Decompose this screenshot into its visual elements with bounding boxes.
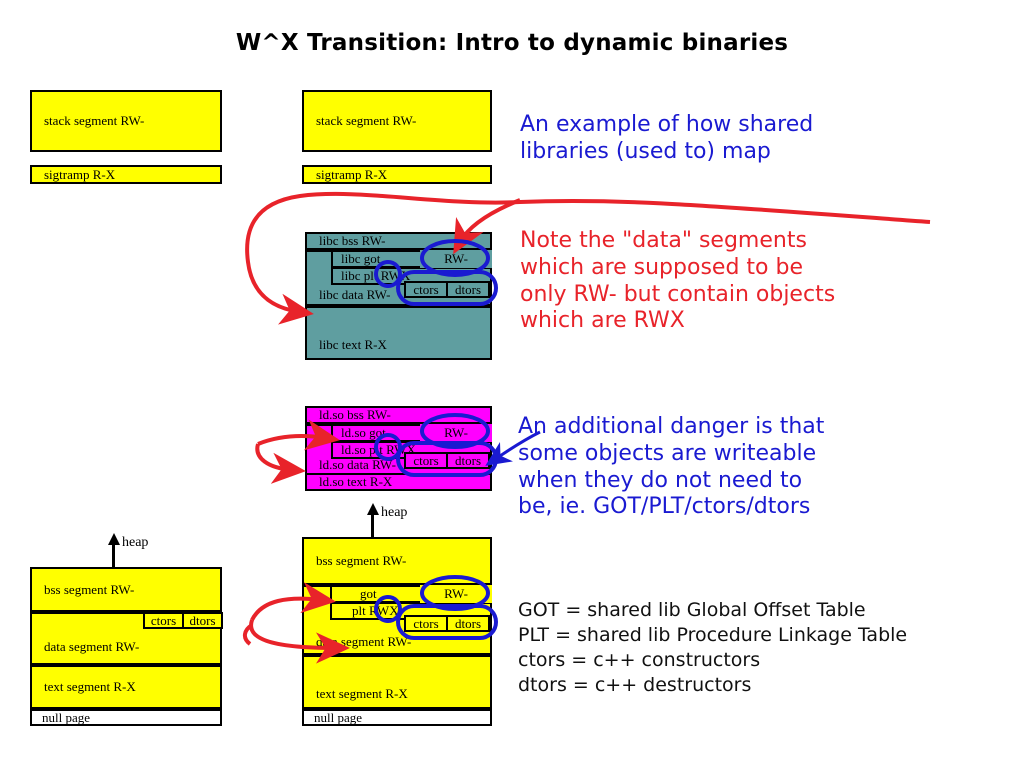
middle-null-page-label: null page [304, 711, 362, 725]
ldso-ctors-box: ctors [404, 452, 448, 469]
left-heap-label: heap [122, 535, 148, 551]
red-mark-left-column [245, 625, 252, 644]
left-heap-arrow-head [108, 533, 120, 545]
libc-plt-label: libc plt RWX [333, 268, 410, 284]
middle-stack-segment-box: stack segment RW- [302, 90, 492, 152]
left-sigtramp-box: sigtramp R-X [30, 165, 222, 184]
left-bss-segment-label: bss segment RW- [32, 583, 134, 597]
ldso-bss-box: ld.so bss RW- [305, 406, 492, 424]
middle-ctors-box: ctors [404, 615, 448, 632]
middle-got-perm-box: RW- [420, 585, 492, 603]
middle-bss-segment-label: bss segment RW- [304, 554, 406, 568]
middle-got-label: got [332, 586, 377, 602]
legend-abbreviations: GOT = shared lib Global Offset Table PLT… [518, 598, 907, 698]
left-stack-segment-label: stack segment RW- [32, 114, 144, 128]
left-sigtramp-label: sigtramp R-X [32, 168, 115, 182]
ldso-bss-label: ld.so bss RW- [307, 408, 391, 422]
ldso-dtors-label: dtors [455, 453, 481, 469]
ldso-got-perm-box: RW- [420, 424, 492, 442]
middle-data-segment-label: data segment RW- [304, 635, 411, 653]
left-text-segment-label: text segment R-X [32, 680, 136, 694]
middle-plt-label: plt RWX [332, 603, 399, 619]
libc-got-label: libc got [333, 251, 380, 267]
libc-got-perm-box: RW- [420, 250, 492, 268]
ldso-text-label: ld.so text R-X [307, 475, 392, 489]
left-null-page-box: null page [30, 709, 222, 726]
middle-heap-arrow-head [367, 503, 379, 515]
libc-text-box: libc text R-X [305, 306, 492, 360]
left-null-page-label: null page [32, 711, 90, 725]
middle-sigtramp-box: sigtramp R-X [302, 165, 492, 184]
middle-ctors-label: ctors [413, 616, 438, 632]
middle-heap-label: heap [381, 505, 407, 521]
libc-ctors-label: ctors [413, 282, 438, 298]
left-data-segment-label: data segment RW- [32, 624, 139, 654]
ldso-got-perm-label: RW- [444, 425, 468, 441]
left-bss-segment-box: bss segment RW- [30, 567, 222, 612]
ldso-dtors-box: dtors [446, 452, 490, 469]
middle-bss-segment-box: bss segment RW- [302, 537, 492, 585]
ldso-got-label: ld.so got [333, 425, 386, 441]
libc-bss-box: libc bss RW- [305, 232, 492, 250]
annotation-additional-danger: An additional danger is that some object… [518, 414, 824, 521]
libc-got-perm-label: RW- [444, 251, 468, 267]
middle-text-segment-label: text segment R-X [304, 687, 408, 707]
libc-dtors-label: dtors [455, 282, 481, 298]
left-text-segment-box: text segment R-X [30, 665, 222, 709]
ldso-text-box: ld.so text R-X [305, 473, 492, 491]
middle-null-page-box: null page [302, 709, 492, 726]
libc-data-label: libc data RW- [307, 288, 390, 304]
libc-dtors-box: dtors [446, 281, 490, 298]
middle-dtors-label: dtors [455, 616, 481, 632]
left-dtors-box: dtors [182, 612, 223, 629]
left-ctors-box: ctors [143, 612, 184, 629]
middle-sigtramp-label: sigtramp R-X [304, 168, 387, 182]
ldso-data-label: ld.so data RW- [307, 458, 396, 474]
left-dtors-label: dtors [190, 613, 216, 629]
middle-got-perm-label: RW- [444, 586, 468, 602]
libc-ctors-box: ctors [404, 281, 448, 298]
red-arrow-ldso-data [257, 444, 292, 470]
left-stack-segment-box: stack segment RW- [30, 90, 222, 152]
libc-text-label: libc text R-X [307, 338, 387, 358]
libc-bss-label: libc bss RW- [307, 234, 385, 248]
page-title: W^X Transition: Intro to dynamic binarie… [0, 30, 1024, 56]
middle-stack-segment-label: stack segment RW- [304, 114, 416, 128]
annotation-data-segments-rwx: Note the "data" segments which are suppo… [520, 228, 835, 335]
ldso-ctors-label: ctors [413, 453, 438, 469]
middle-text-segment-box: text segment R-X [302, 655, 492, 709]
annotation-shared-libraries: An example of how shared libraries (used… [520, 112, 813, 166]
left-ctors-label: ctors [151, 613, 176, 629]
middle-dtors-box: dtors [446, 615, 490, 632]
slide-canvas: W^X Transition: Intro to dynamic binarie… [0, 0, 1024, 768]
